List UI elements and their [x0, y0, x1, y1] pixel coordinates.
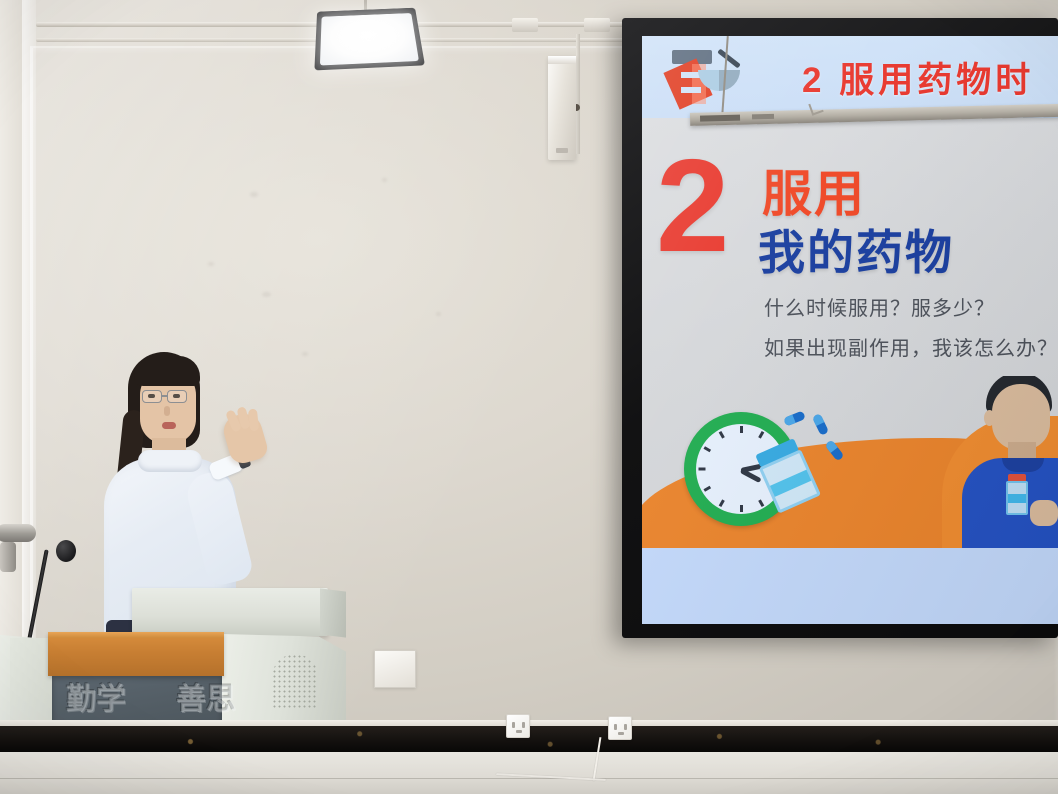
podium-inscription-right: 善思 — [176, 684, 236, 716]
clock-tick — [740, 505, 743, 512]
socket-slot — [614, 724, 617, 730]
logo-pestle — [717, 49, 741, 69]
conduit-junction-box — [512, 18, 538, 32]
podium-backboard-side — [320, 588, 346, 637]
light-diffuser-panel — [320, 13, 419, 65]
capsule-light-half — [783, 415, 796, 427]
speaker-indicator — [556, 148, 568, 153]
conduit-junction-box — [584, 18, 610, 32]
capsule-light-half — [812, 413, 824, 426]
wall-display-screen[interactable]: 2 服用药物时 2 服用 我的药物 什么时候服用？服多少？ 如果出现副作用，我该… — [622, 18, 1058, 638]
wall-smudge — [302, 352, 308, 356]
screen-viewport[interactable]: 2 服用药物时 2 服用 我的药物 什么时候服用？服多少？ 如果出现副作用，我该… — [642, 36, 1058, 624]
blue-capsule-pill — [783, 410, 806, 426]
podium-inscription-left: 勤学 — [66, 684, 126, 716]
wall-mounted-speaker — [548, 56, 576, 160]
figure-bottle-band — [1008, 494, 1026, 503]
microphone-capsule[interactable] — [56, 540, 76, 562]
wall-smudge — [250, 192, 258, 197]
metal-pipe-fitting — [0, 524, 36, 542]
metal-pipe-stem — [0, 542, 16, 572]
square-ceiling-light-panel — [314, 8, 425, 71]
socket-slot — [618, 732, 624, 735]
slide-subtitle-line-1: 什么时候服用？服多少？ — [764, 292, 995, 321]
blue-capsule-pill — [812, 413, 829, 436]
mount-bar-label — [700, 115, 740, 122]
podium-backboard — [132, 588, 328, 636]
eyeglasses-lens-left — [142, 390, 162, 403]
eyeglasses-lens-right — [167, 390, 187, 403]
figure-head — [992, 384, 1050, 450]
floor — [0, 752, 1058, 794]
pharmacy-mortar-pill-bottle-logo — [664, 48, 740, 108]
wall-smudge — [436, 312, 441, 316]
floor-tile-seam — [0, 778, 1058, 779]
speaker-mount-bracket — [576, 34, 580, 154]
podium-wood-top — [48, 632, 224, 676]
wall-smudge — [208, 262, 214, 266]
socket-slot — [522, 722, 525, 728]
presenter-fringe — [134, 356, 200, 386]
wall-power-socket[interactable] — [608, 716, 632, 740]
figure-hand — [1030, 500, 1058, 526]
figure-ear — [984, 410, 995, 426]
presenter-collar — [138, 450, 202, 472]
person-holding-medicine-bottle — [948, 376, 1058, 572]
eyeglasses-bridge — [162, 395, 168, 397]
classroom-photo-scene: 2 服用药物时 2 服用 我的药物 什么时候服用？服多少？ 如果出现副作用，我该… — [0, 0, 1058, 794]
wall-smudge — [382, 178, 387, 182]
slide-heading-blue: 我的药物 — [758, 214, 954, 283]
presenter-nose — [164, 406, 170, 416]
slide-header-title: 2 服用药物时 — [802, 52, 1034, 103]
slide-footer-band — [642, 548, 1058, 624]
presenter-mouth — [162, 422, 176, 429]
logo-notch-lower — [681, 87, 701, 93]
podium-speaker-grille — [272, 654, 318, 708]
podium-wood-top-edge — [48, 632, 224, 638]
slide-section-number: 2 — [656, 140, 729, 272]
clock-tick — [740, 426, 743, 433]
socket-slot — [516, 730, 522, 733]
wall-smudge — [262, 292, 271, 297]
wall-power-socket[interactable] — [506, 714, 530, 738]
clock-tick — [699, 468, 706, 471]
socket-slot — [512, 722, 515, 728]
socket-slot — [624, 724, 627, 730]
presenter-finger — [248, 409, 259, 432]
speaker-top-cap — [548, 56, 576, 64]
slide-subtitle-line-2: 如果出现副作用，我该怎么办？ — [764, 332, 1058, 361]
wall-control-box[interactable] — [374, 650, 416, 688]
mount-bar-label-secondary — [752, 114, 774, 120]
